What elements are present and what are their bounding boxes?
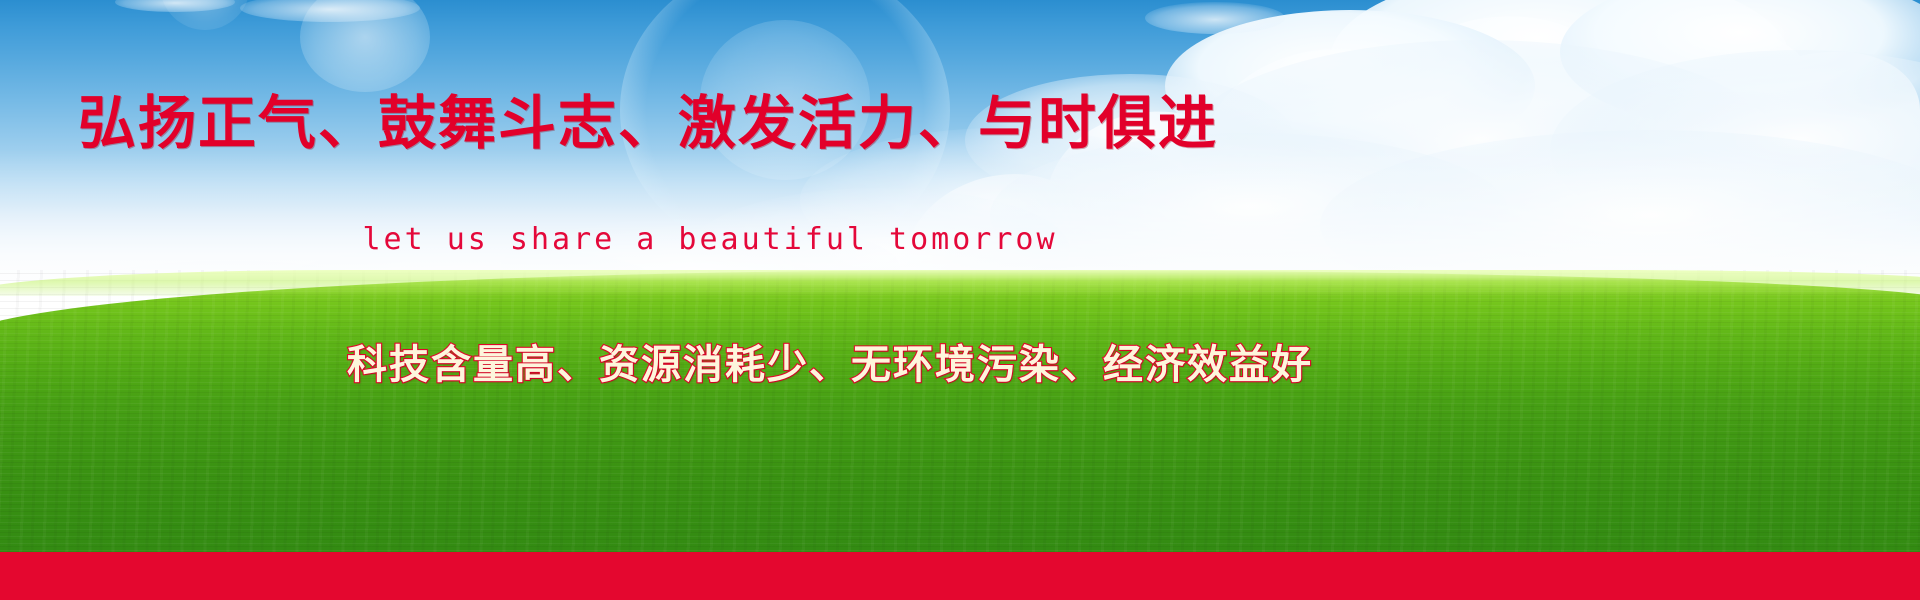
banner-subtitle-chinese: 科技含量高、资源消耗少、无环境污染、经济效益好 [0,332,1660,390]
text-overlay: 弘扬正气、鼓舞斗志、激发活力、与时俱进 let us share a beaut… [0,0,1920,600]
banner-headline: 弘扬正气、鼓舞斗志、激发活力、与时俱进 [78,92,1218,157]
banner-image: 弘扬正气、鼓舞斗志、激发活力、与时俱进 let us share a beaut… [0,0,1920,600]
banner-subtitle-english: let us share a beautiful tomorrow [0,222,1420,257]
